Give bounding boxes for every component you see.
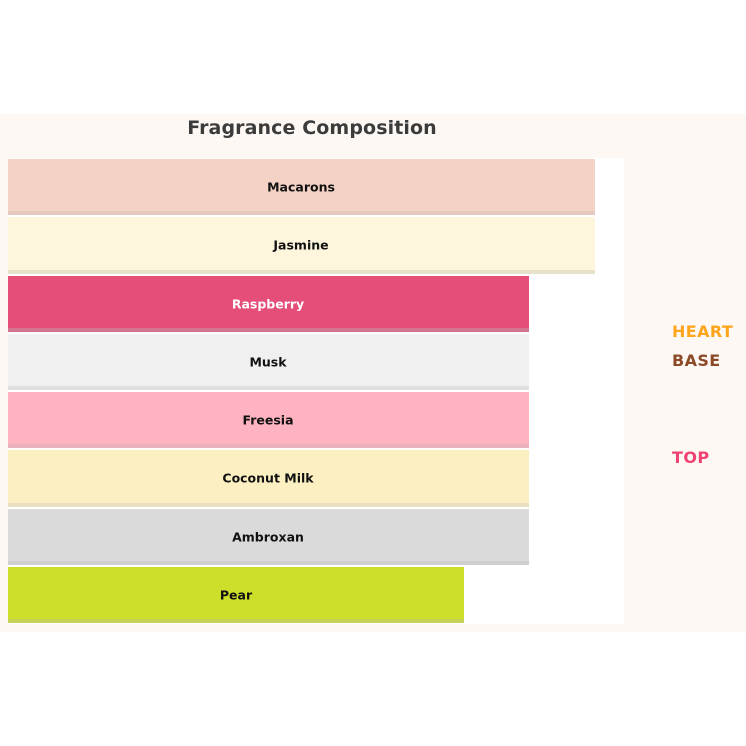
bar-row: Ambroxan (8, 508, 624, 566)
bar-row: Musk (8, 333, 624, 391)
bar-row: Raspberry (8, 275, 624, 333)
bar-face (8, 276, 529, 328)
annotation-base: BASE (672, 351, 721, 370)
bar-shadow-edge (8, 561, 529, 565)
bar-shadow-edge (8, 503, 529, 507)
bar-face (8, 392, 529, 444)
bar-macarons[interactable] (8, 159, 595, 215)
bar-row: Macarons (8, 158, 624, 216)
bar-face (8, 334, 529, 386)
bar-shadow-edge (8, 270, 595, 274)
bar-shadow-edge (8, 328, 529, 332)
bar-face (8, 567, 464, 619)
figure-panel: Fragrance Composition MacaronsJasmineRas… (0, 114, 746, 632)
plot-area: MacaronsJasmineRaspberryMuskFreesiaCocon… (8, 158, 624, 624)
bar-row: Pear (8, 566, 624, 624)
bar-coconut-milk[interactable] (8, 450, 529, 506)
bar-freesia[interactable] (8, 392, 529, 448)
bar-face (8, 217, 595, 269)
annotation-heart: HEART (672, 322, 733, 341)
bar-face (8, 450, 529, 502)
bar-row: Jasmine (8, 216, 624, 274)
bar-row: Freesia (8, 391, 624, 449)
bar-shadow-edge (8, 211, 595, 215)
chart-title: Fragrance Composition (0, 117, 624, 139)
bar-ambroxan[interactable] (8, 509, 529, 565)
bar-shadow-edge (8, 619, 464, 623)
bar-shadow-edge (8, 386, 529, 390)
bar-pear[interactable] (8, 567, 464, 623)
bar-row: Coconut Milk (8, 449, 624, 507)
annotation-top: TOP (672, 448, 709, 467)
bar-shadow-edge (8, 444, 529, 448)
bar-musk[interactable] (8, 334, 529, 390)
bar-face (8, 509, 529, 561)
bar-raspberry[interactable] (8, 276, 529, 332)
bar-face (8, 159, 595, 211)
bar-jasmine[interactable] (8, 217, 595, 273)
